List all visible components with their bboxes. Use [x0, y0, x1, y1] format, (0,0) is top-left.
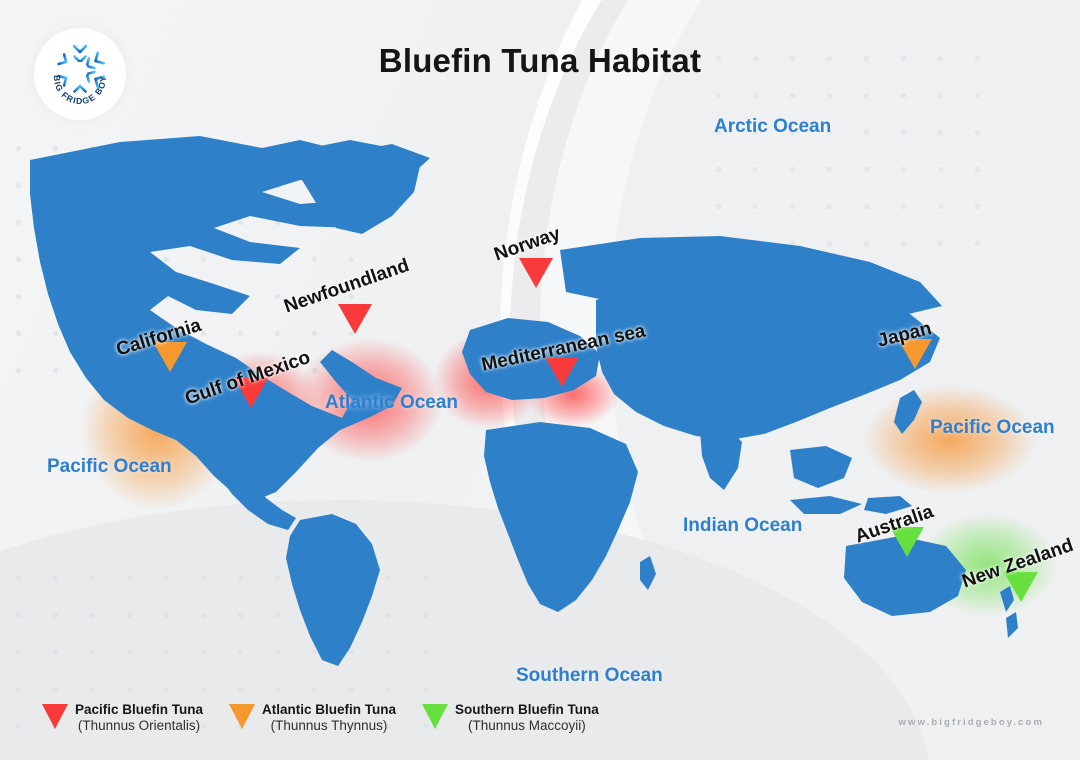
habitat-marker-red[interactable]: [519, 258, 553, 288]
habitat-marker-red[interactable]: [338, 304, 372, 334]
ocean-label: Indian Ocean: [683, 515, 802, 537]
ocean-label: Atlantic Ocean: [325, 392, 458, 414]
legend-species-name: Atlantic Bluefin Tuna: [262, 702, 396, 718]
legend-marker-icon: [422, 704, 448, 729]
legend-species-scientific: (Thunnus Thynnus): [262, 718, 396, 734]
world-map: [0, 100, 1080, 670]
legend-marker-icon: [42, 704, 68, 729]
legend-text: Pacific Bluefin Tuna(Thunnus Orientalis): [75, 702, 203, 734]
ocean-label: Pacific Ocean: [47, 456, 172, 478]
ocean-label: Pacific Ocean: [930, 417, 1055, 439]
ocean-label: Southern Ocean: [516, 665, 663, 687]
legend-species-scientific: (Thunnus Orientalis): [75, 718, 203, 734]
legend-item[interactable]: Pacific Bluefin Tuna(Thunnus Orientalis): [42, 702, 203, 734]
legend-item[interactable]: Atlantic Bluefin Tuna(Thunnus Thynnus): [229, 702, 396, 734]
legend-item[interactable]: Southern Bluefin Tuna(Thunnus Maccoyii): [422, 702, 599, 734]
legend-marker-icon: [229, 704, 255, 729]
map-landmasses: [30, 136, 1018, 666]
legend-species-scientific: (Thunnus Maccoyii): [455, 718, 599, 734]
legend-text: Atlantic Bluefin Tuna(Thunnus Thynnus): [262, 702, 396, 734]
website-url: www.bigfridgeboy.com: [899, 717, 1044, 728]
legend: Pacific Bluefin Tuna(Thunnus Orientalis)…: [42, 702, 599, 734]
legend-species-name: Southern Bluefin Tuna: [455, 702, 599, 718]
legend-species-name: Pacific Bluefin Tuna: [75, 702, 203, 718]
legend-text: Southern Bluefin Tuna(Thunnus Maccoyii): [455, 702, 599, 734]
ocean-label: Arctic Ocean: [714, 116, 831, 138]
infographic-canvas: BIG FRIDGE BOY Bluefin Tuna Habitat Arct…: [0, 0, 1080, 760]
page-title: Bluefin Tuna Habitat: [0, 42, 1080, 80]
